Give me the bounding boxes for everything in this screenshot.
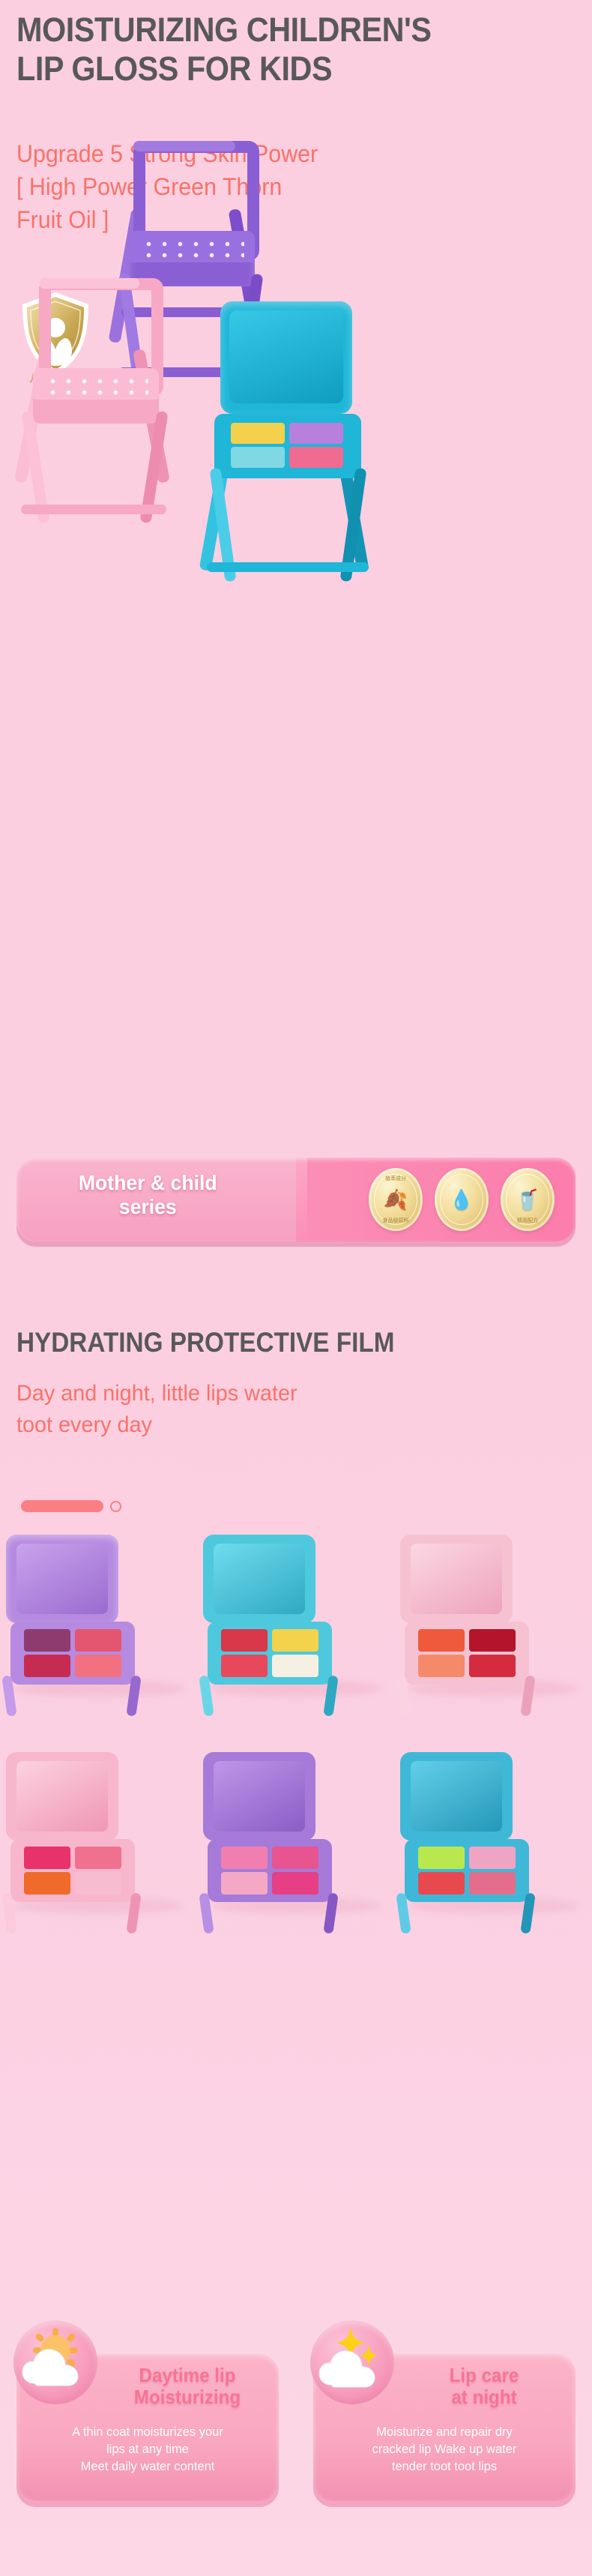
daytime-card-title: Daytime lip Moisturizing <box>112 2365 263 2408</box>
palette-pink-1 <box>394 1533 591 1719</box>
pink-folding-chair-compact <box>16 259 189 596</box>
palette-blue-2 <box>394 1751 591 1936</box>
simple-formula-medal: 🥤 精简配方 <box>501 1168 555 1231</box>
medal-bottom-label: 食品级原料 <box>369 1217 423 1224</box>
page-title: MOISTURIZING CHILDREN'S LIP GLOSS FOR KI… <box>16 10 527 88</box>
banner-medal-group: 植萃成分 🍂 食品级原料 💧 🥤 精简配方 <box>369 1168 555 1231</box>
product-detail-page: MOISTURIZING CHILDREN'S LIP GLOSS FOR KI… <box>0 0 592 2576</box>
night-card-icon-wrap <box>310 2320 394 2404</box>
bottle-icon: 🥤 <box>501 1190 555 1209</box>
blue-folding-chair-compact <box>201 294 388 624</box>
leaf-icon: 🍂 <box>369 1190 423 1209</box>
palette-teal-1 <box>197 1533 394 1719</box>
pagination-dot-active[interactable] <box>21 1500 103 1512</box>
plant-extract-medal: 植萃成分 🍂 食品级原料 <box>369 1168 423 1231</box>
medal-bottom-label: 精简配方 <box>501 1217 555 1224</box>
palette-purple-1 <box>0 1533 197 1719</box>
section-subtitle: Day and night, little lips water toot ev… <box>16 1378 492 1441</box>
pagination-dot[interactable] <box>110 1501 121 1512</box>
banner-title: Mother & child series <box>37 1171 259 1219</box>
section-title: HYDRATING PROTECTIVE FILM <box>16 1327 516 1358</box>
hero-product-image <box>0 225 592 1110</box>
night-card-title: Lip care at night <box>409 2365 560 2408</box>
droplet-icon: 💧 <box>435 1190 489 1209</box>
cloud-with-stars-icon <box>310 2320 394 2404</box>
palette-violet-2 <box>197 1751 394 1936</box>
daytime-card-body: A thin coat moisturizes your lips at any… <box>28 2423 268 2475</box>
night-card-body: Moisturize and repair dry cracked lip Wa… <box>324 2423 564 2475</box>
daytime-card-icon-wrap <box>13 2320 97 2404</box>
medal-top-label: 植萃成分 <box>369 1175 423 1182</box>
carousel-pagination[interactable] <box>21 1500 121 1512</box>
moisture-medal: 💧 <box>435 1168 489 1231</box>
mother-child-banner: Mother & child series 植萃成分 🍂 食品级原料 💧 🥤 精… <box>16 1158 576 1242</box>
palette-gallery <box>0 1533 592 2290</box>
sun-behind-cloud-icon <box>13 2320 97 2404</box>
palette-rose-2 <box>0 1751 197 1936</box>
